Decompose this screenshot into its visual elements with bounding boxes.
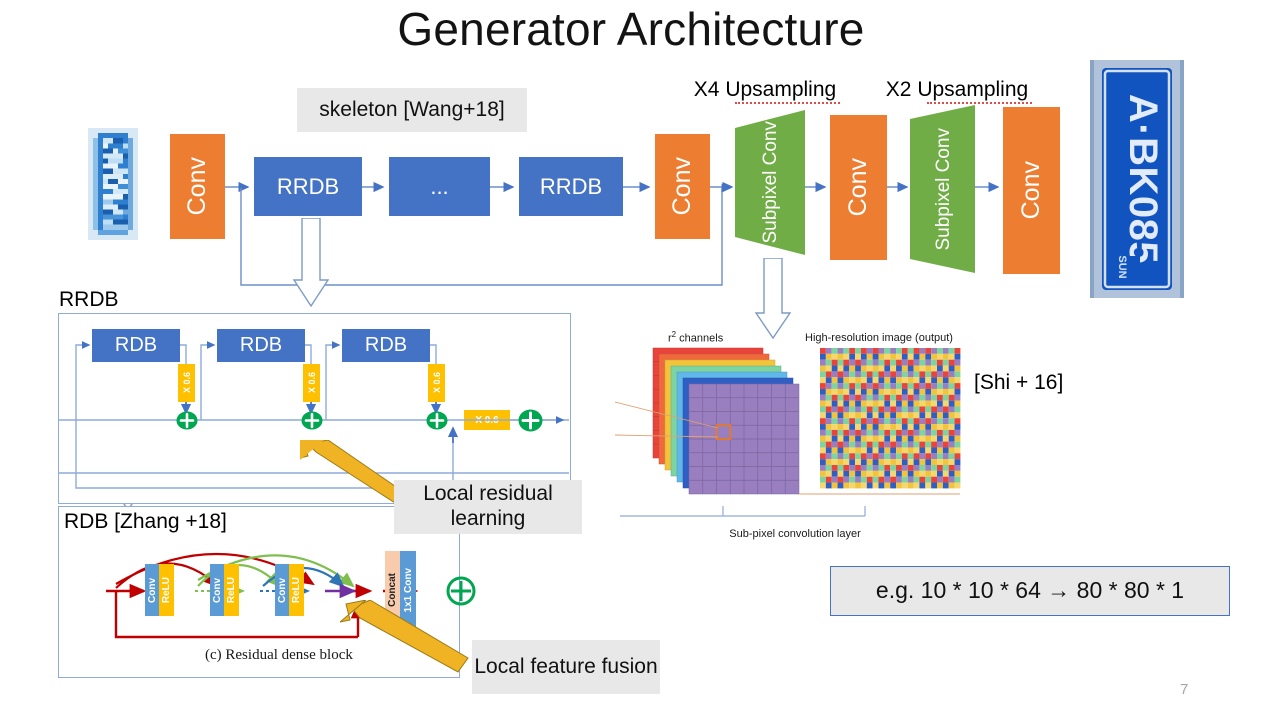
expand-arrow-rrdb [293,218,329,308]
page-number: 7 [1180,681,1188,698]
rdb-unit-1: Conv ReLU [145,564,174,616]
flow-block-conv-2[interactable]: Conv [655,134,710,239]
page-title: Generator Architecture [0,2,1262,56]
flow-block-label: Conv [668,157,697,215]
flow-block-conv-4[interactable]: Conv [1003,107,1060,274]
x2-upsampling-label: X2 Upsampling [881,78,1033,102]
flow-block-label: RRDB [540,174,602,200]
conv-label: Conv [277,578,288,603]
subpixel-label: Subpixel Conv [761,121,781,244]
flow-block-label: ... [430,174,448,200]
expand-arrow-subpixel [755,258,791,340]
flow-block-conv-3[interactable]: Conv [830,115,887,260]
flow-block-subpixel-conv-1[interactable]: Subpixel Conv [735,110,805,255]
local-residual-callout: Local residual learning [394,480,582,534]
flow-block-label: Conv [844,158,873,216]
subpixel-bracket-label: Sub-pixel convolution layer [615,528,975,540]
conv-label: Conv [212,578,223,603]
flow-block-rrdb-1[interactable]: RRDB [254,157,362,216]
flow-block-rrdb-n[interactable]: RRDB [519,157,623,216]
adder-3 [426,411,448,435]
flow-block-label: Conv [1017,161,1046,219]
x2-underline [927,100,1032,104]
rdb-unit-2: Conv ReLU [210,564,239,616]
skeleton-callout: skeleton [Wang+18] [297,88,527,132]
relu-label: ReLU [226,577,237,603]
conv-label: Conv [147,578,158,603]
low-res-plate-image [88,128,138,240]
local-feature-callout: Local feature fusion [472,640,660,694]
adder-4 [518,409,543,437]
flow-block-rrdb-ellipsis[interactable]: ... [389,157,490,216]
subpixel-figure [615,340,975,550]
high-res-plate-image: A·BK085 SUN [1090,60,1184,298]
subpixel-label: Subpixel Conv [934,128,954,251]
rdb-caption: (c) Residual dense block [205,647,353,664]
callout-arrow-local-feature [340,600,470,675]
flow-block-label: RRDB [277,174,339,200]
x4-underline [735,100,840,104]
rrdb-section-label: RRDB [59,288,119,312]
adder-2 [301,411,323,435]
example-formula-box: e.g. 10 * 10 * 64 → 80 * 80 * 1 [830,566,1230,616]
relu-label: ReLU [291,577,302,603]
flow-block-label: Conv [183,157,212,215]
adder-1 [176,411,198,435]
relu-label: ReLU [161,577,172,603]
x4-upsampling-label: X4 Upsampling [689,78,841,102]
shi-citation: [Shi + 16] [974,371,1063,395]
flow-block-conv-1[interactable]: Conv [170,134,225,239]
rdb-unit-3: Conv ReLU [275,564,304,616]
flow-block-subpixel-conv-2[interactable]: Subpixel Conv [910,105,975,273]
